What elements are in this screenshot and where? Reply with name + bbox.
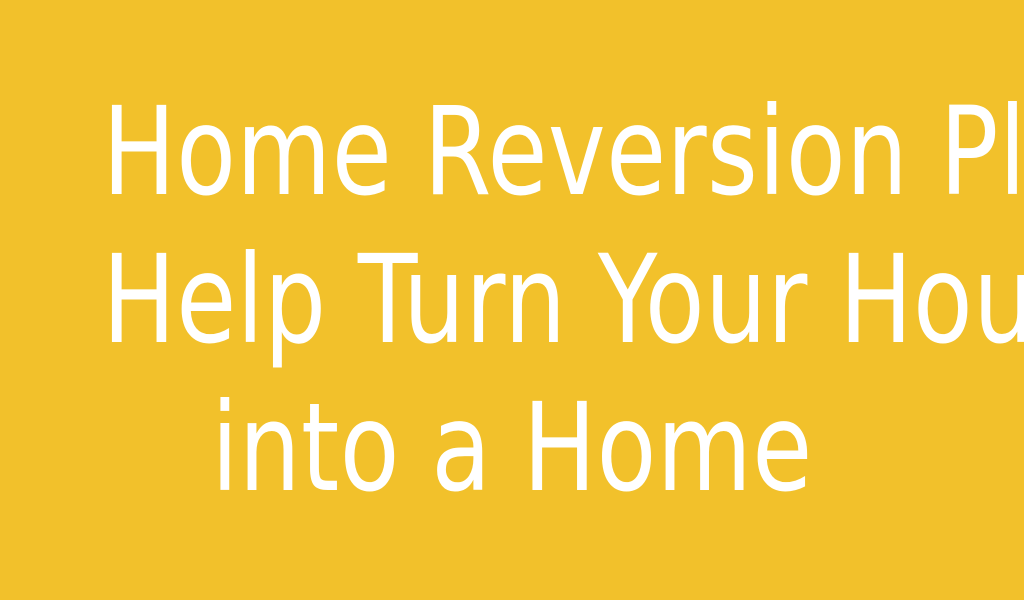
headline-line-2: Help Turn Your House bbox=[102, 226, 921, 374]
headline-block: Home Reversion Plans Help Turn Your Hous… bbox=[0, 0, 1024, 600]
headline-line-3: into a Home bbox=[102, 374, 921, 522]
headline-line-1: Home Reversion Plans bbox=[102, 78, 921, 226]
promo-banner: Home Reversion Plans Help Turn Your Hous… bbox=[0, 0, 1024, 600]
